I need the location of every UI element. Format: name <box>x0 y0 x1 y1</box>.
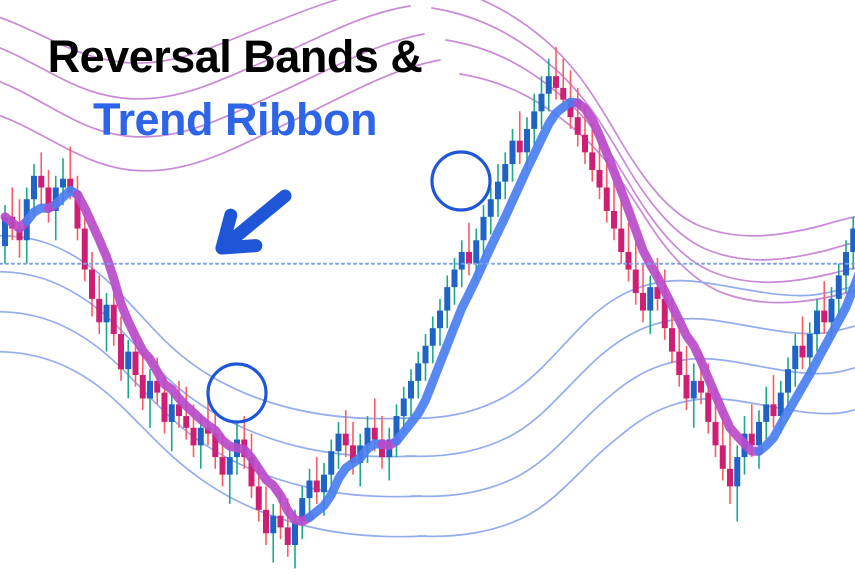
candle-body <box>495 182 501 200</box>
candle-body <box>597 170 603 188</box>
candle-body <box>734 457 740 486</box>
candle-body <box>800 346 806 358</box>
upper-reversal-bands <box>0 0 855 303</box>
candle-body <box>836 275 842 298</box>
price-chart-canvas <box>0 0 855 586</box>
candle-body <box>437 311 443 329</box>
candle-body <box>850 229 855 252</box>
candle-body <box>691 381 697 399</box>
candle-body <box>524 129 530 152</box>
candle-body <box>263 510 269 533</box>
candle-body <box>720 445 726 468</box>
candle-body <box>705 393 711 422</box>
candle-body <box>647 287 653 310</box>
candle-body <box>147 381 153 399</box>
candle-body <box>539 94 545 112</box>
candle-body <box>466 252 472 264</box>
candle-body <box>807 334 813 357</box>
candle-body <box>698 381 704 393</box>
candle-body <box>328 451 334 474</box>
candle-body <box>531 111 537 129</box>
candle-body <box>604 188 610 211</box>
candle-body <box>415 363 421 381</box>
candle-body <box>814 311 820 334</box>
candle-body <box>626 252 632 270</box>
candle-body <box>220 457 226 475</box>
candle-body <box>60 179 66 188</box>
candle-body <box>401 398 407 416</box>
candle-body <box>589 152 595 170</box>
candle-body <box>191 428 197 446</box>
candle-body <box>256 486 262 509</box>
reversal-band-line <box>420 0 855 236</box>
candle-body <box>684 375 690 398</box>
candle-body <box>96 299 102 322</box>
candle-body <box>198 428 204 446</box>
trend-ribbon-bearish-segment <box>578 103 759 451</box>
trend-ribbon <box>5 102 855 521</box>
candle-body <box>821 311 827 323</box>
candle-body <box>307 481 313 499</box>
reversal-band-line <box>432 8 855 260</box>
candle-body <box>582 135 588 153</box>
candle-body <box>125 352 131 370</box>
candle-body <box>771 404 777 416</box>
candle-body <box>89 270 95 299</box>
candle-body <box>611 211 617 229</box>
candle-body <box>278 516 284 528</box>
candle-body <box>785 369 791 392</box>
trend-ribbon-bearish-segment <box>78 195 310 522</box>
candle-body <box>285 527 291 545</box>
candle-body <box>372 428 378 440</box>
arrow-head-right <box>222 246 256 248</box>
candle-body <box>640 293 646 311</box>
candle-body <box>140 375 146 398</box>
candle-body <box>343 434 349 446</box>
upper-reversal-circle <box>432 152 490 210</box>
candle-body <box>763 404 769 422</box>
reversal-band-line <box>0 6 410 99</box>
indicator-chart-image: Reversal Bands & Trend Ribbon <box>0 0 855 586</box>
candle-body <box>517 141 523 153</box>
candle-body <box>633 270 639 293</box>
candle-body <box>792 346 798 369</box>
candle-body <box>423 346 429 364</box>
candle-body <box>118 334 124 369</box>
candle-body <box>546 76 552 94</box>
reversal-band-line <box>418 398 855 536</box>
candle-body <box>133 352 139 375</box>
candle-body <box>111 305 117 334</box>
candle-body <box>618 229 624 252</box>
reversal-band-line <box>0 34 424 137</box>
candle-body <box>669 328 675 351</box>
candle-body <box>314 481 320 493</box>
candle-body <box>488 199 494 217</box>
candle-body <box>473 240 479 263</box>
candle-body <box>430 328 436 346</box>
candlestick-series <box>2 47 855 569</box>
candle-body <box>481 217 487 240</box>
lower-reversal-circle <box>208 364 266 422</box>
candle-body <box>553 76 559 88</box>
candle-body <box>321 475 327 493</box>
candle-body <box>227 457 233 475</box>
candle-body <box>292 522 298 545</box>
candle-body <box>444 287 450 310</box>
reversal-band-line <box>0 0 400 63</box>
candle-body <box>183 416 189 428</box>
candle-body <box>676 352 682 375</box>
candle-body <box>727 469 733 487</box>
candle-body <box>510 141 516 164</box>
candle-body <box>104 305 110 323</box>
candle-body <box>270 516 276 534</box>
candle-body <box>575 117 581 135</box>
candle-body <box>829 299 835 322</box>
reversal-band-line <box>446 40 855 282</box>
candle-body <box>162 393 168 422</box>
candle-body <box>756 422 762 445</box>
candle-body <box>560 88 566 100</box>
candle-body <box>31 176 37 199</box>
trend-ribbon-bullish-segment <box>397 102 578 441</box>
candle-body <box>38 176 44 188</box>
candle-body <box>502 164 508 182</box>
candle-body <box>452 270 458 288</box>
candle-body <box>713 422 719 445</box>
candle-body <box>169 404 175 422</box>
candle-body <box>408 381 414 399</box>
candle-body <box>336 434 342 452</box>
candle-body <box>459 252 465 270</box>
